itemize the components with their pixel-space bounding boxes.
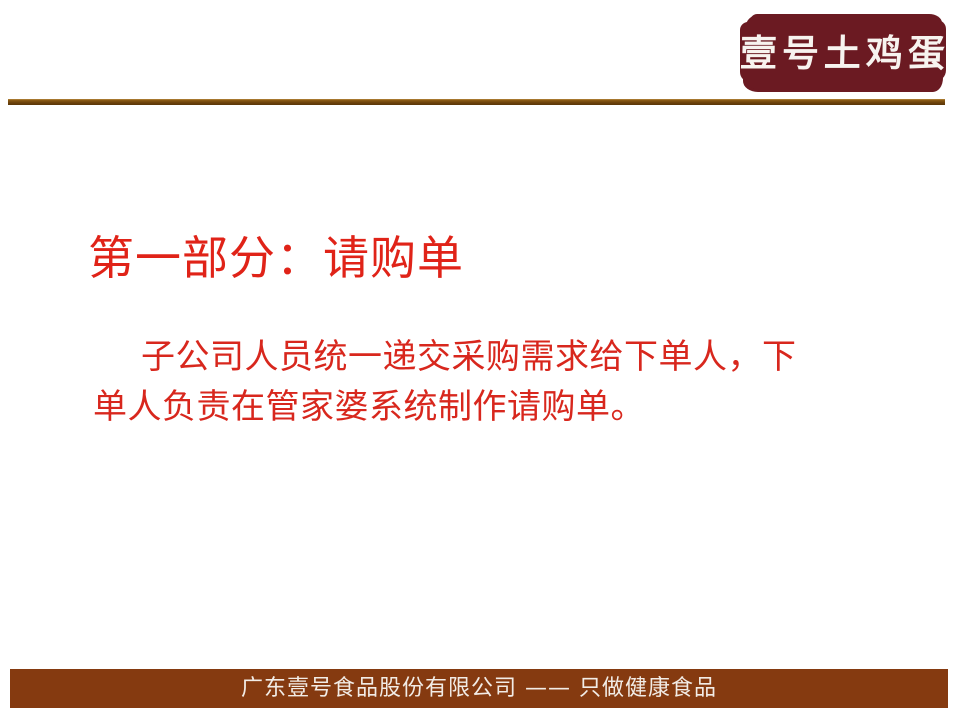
slide-title: 第一部分：请购单 xyxy=(88,230,464,288)
footer-bar: 广东壹号食品股份有限公司 —— 只做健康食品 xyxy=(10,669,948,708)
body-line: 子公司人员统一递交采购需求给下单人，下 xyxy=(93,332,873,382)
slide-body: 子公司人员统一递交采购需求给下单人，下 单人负责在管家婆系统制作请购单。 xyxy=(93,332,873,432)
presentation-slide: 壹号土鸡蛋 第一部分：请购单 子公司人员统一递交采购需求给下单人，下 单人负责在… xyxy=(0,0,960,720)
logo-seal-text: 壹号土鸡蛋 xyxy=(736,35,951,72)
company-logo-seal: 壹号土鸡蛋 xyxy=(745,16,941,90)
footer-slogan: 广东壹号食品股份有限公司 —— 只做健康食品 xyxy=(241,678,717,700)
body-line: 单人负责在管家婆系统制作请购单。 xyxy=(93,382,873,432)
header-divider-rule xyxy=(8,99,945,105)
